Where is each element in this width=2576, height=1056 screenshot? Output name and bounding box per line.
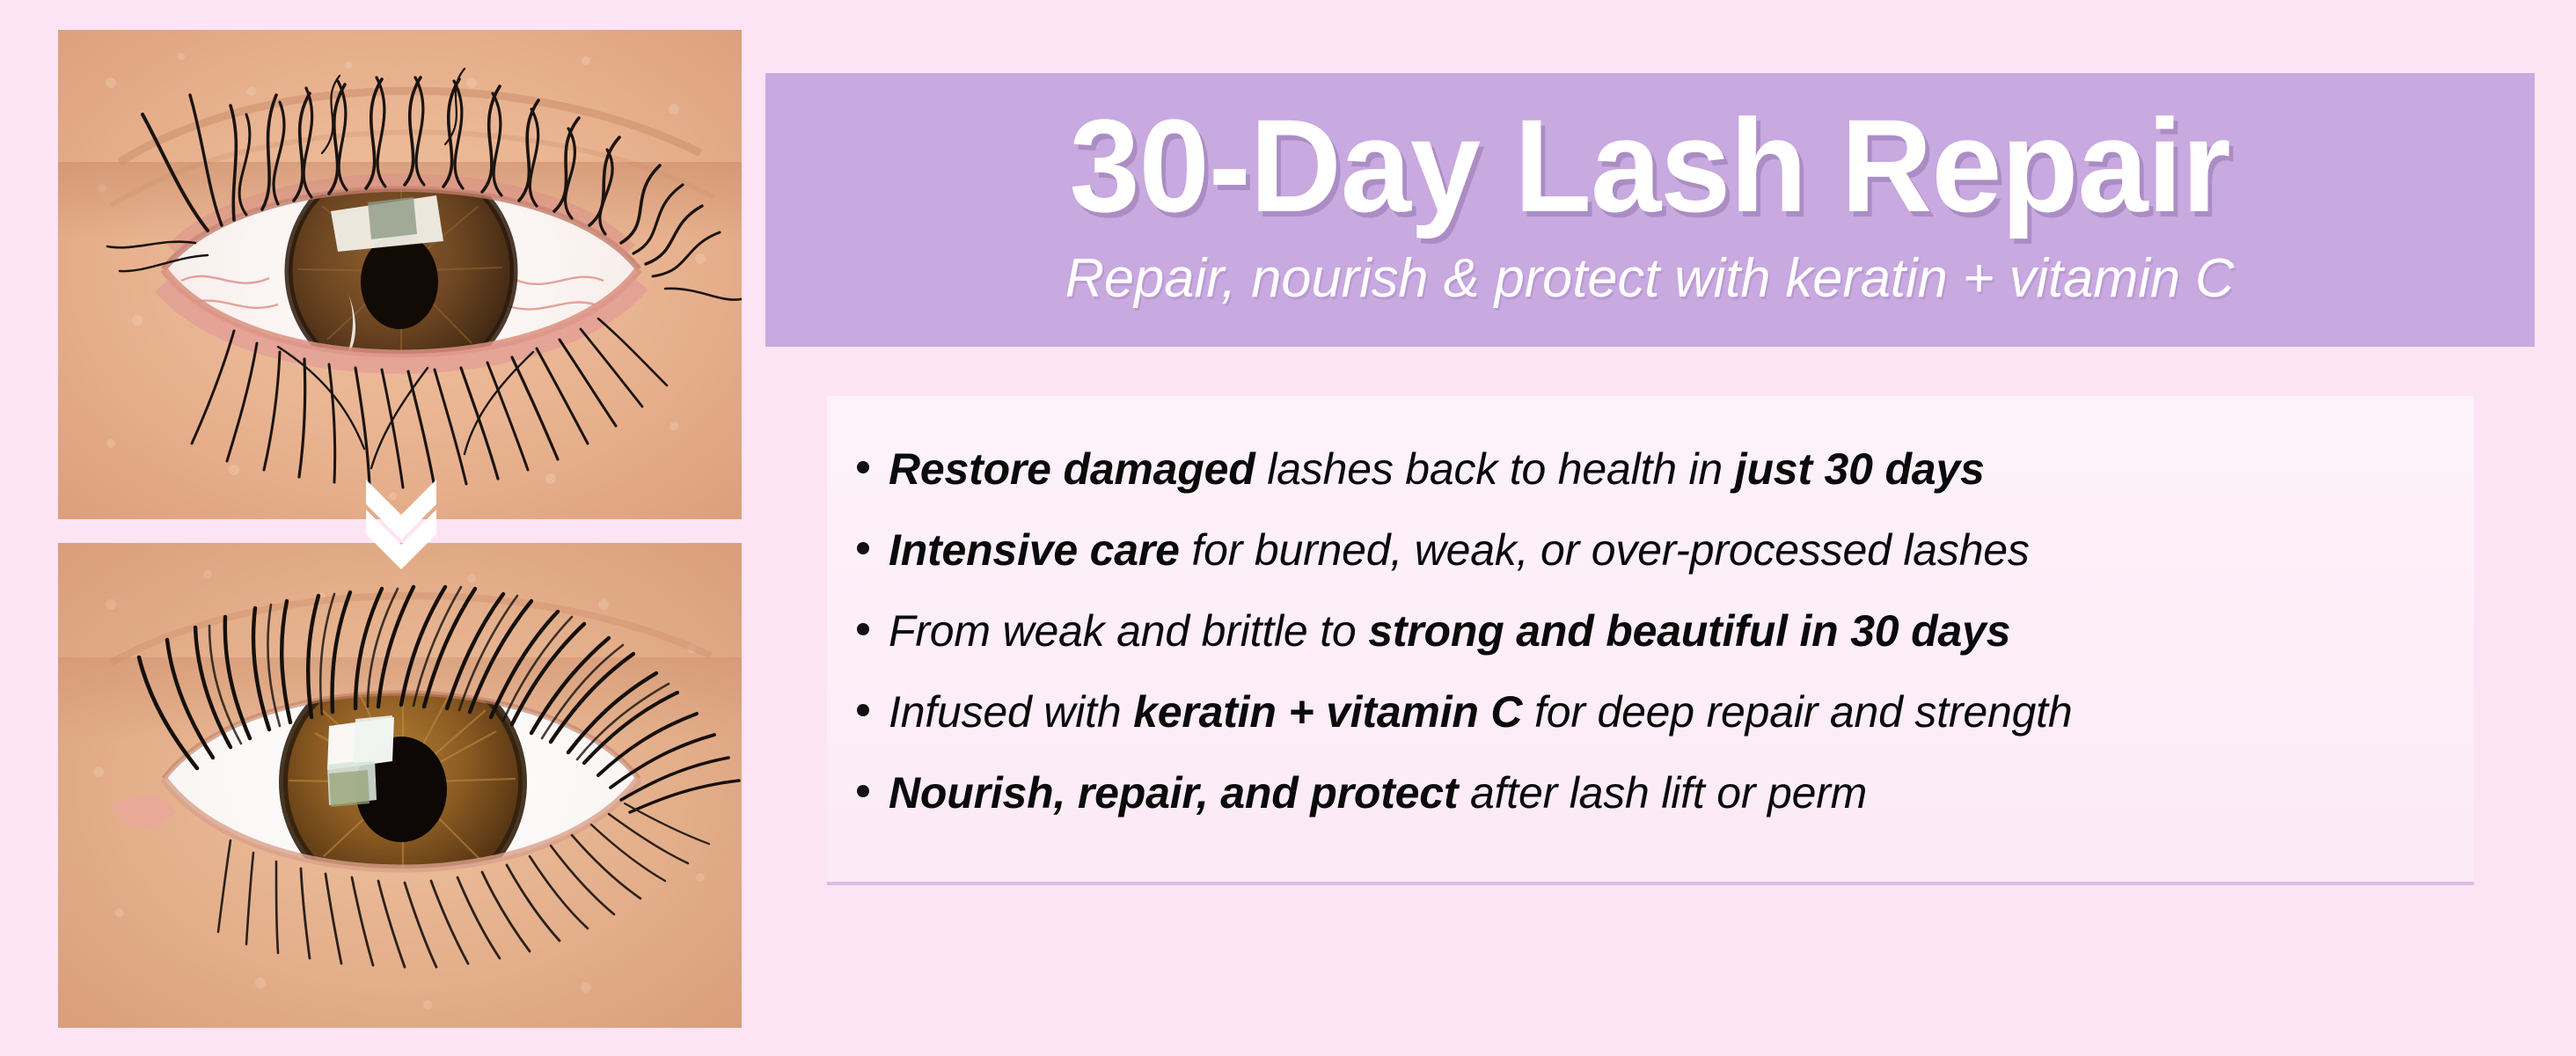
after-photo <box>58 543 742 1028</box>
list-item: From weak and brittle to strong and beau… <box>827 605 2474 657</box>
bullet-dot-icon <box>857 785 869 797</box>
bullet-dot-icon <box>857 704 869 716</box>
list-item: Intensive care for burned, weak, or over… <box>827 524 2474 576</box>
list-item: Nourish, repair, and protect after lash … <box>827 767 2474 819</box>
benefits-panel: Restore damaged lashes back to health in… <box>827 396 2474 885</box>
bullet-dot-icon <box>857 542 869 554</box>
bullet-dot-icon <box>857 623 869 635</box>
benefits-list: Restore damaged lashes back to health in… <box>827 444 2474 819</box>
benefit-text: From weak and brittle to strong and beau… <box>889 605 2010 657</box>
page-subtitle: Repair, nourish & protect with keratin +… <box>1065 249 2235 309</box>
list-item: Infused with keratin + vitamin C for dee… <box>827 686 2474 738</box>
benefit-text: Nourish, repair, and protect after lash … <box>889 767 1867 819</box>
promo-banner-root: 30-Day Lash Repair Repair, nourish & pro… <box>0 0 2576 1056</box>
benefit-text: Infused with keratin + vitamin C for dee… <box>889 686 2073 738</box>
header-banner: 30-Day Lash Repair Repair, nourish & pro… <box>765 73 2535 347</box>
list-item: Restore damaged lashes back to health in… <box>827 444 2474 495</box>
benefit-text: Intensive care for burned, weak, or over… <box>889 524 2030 576</box>
bullet-dot-icon <box>857 461 869 473</box>
before-photo <box>58 30 742 519</box>
benefit-text: Restore damaged lashes back to health in… <box>889 444 1985 495</box>
page-title: 30-Day Lash Repair <box>1070 99 2230 233</box>
